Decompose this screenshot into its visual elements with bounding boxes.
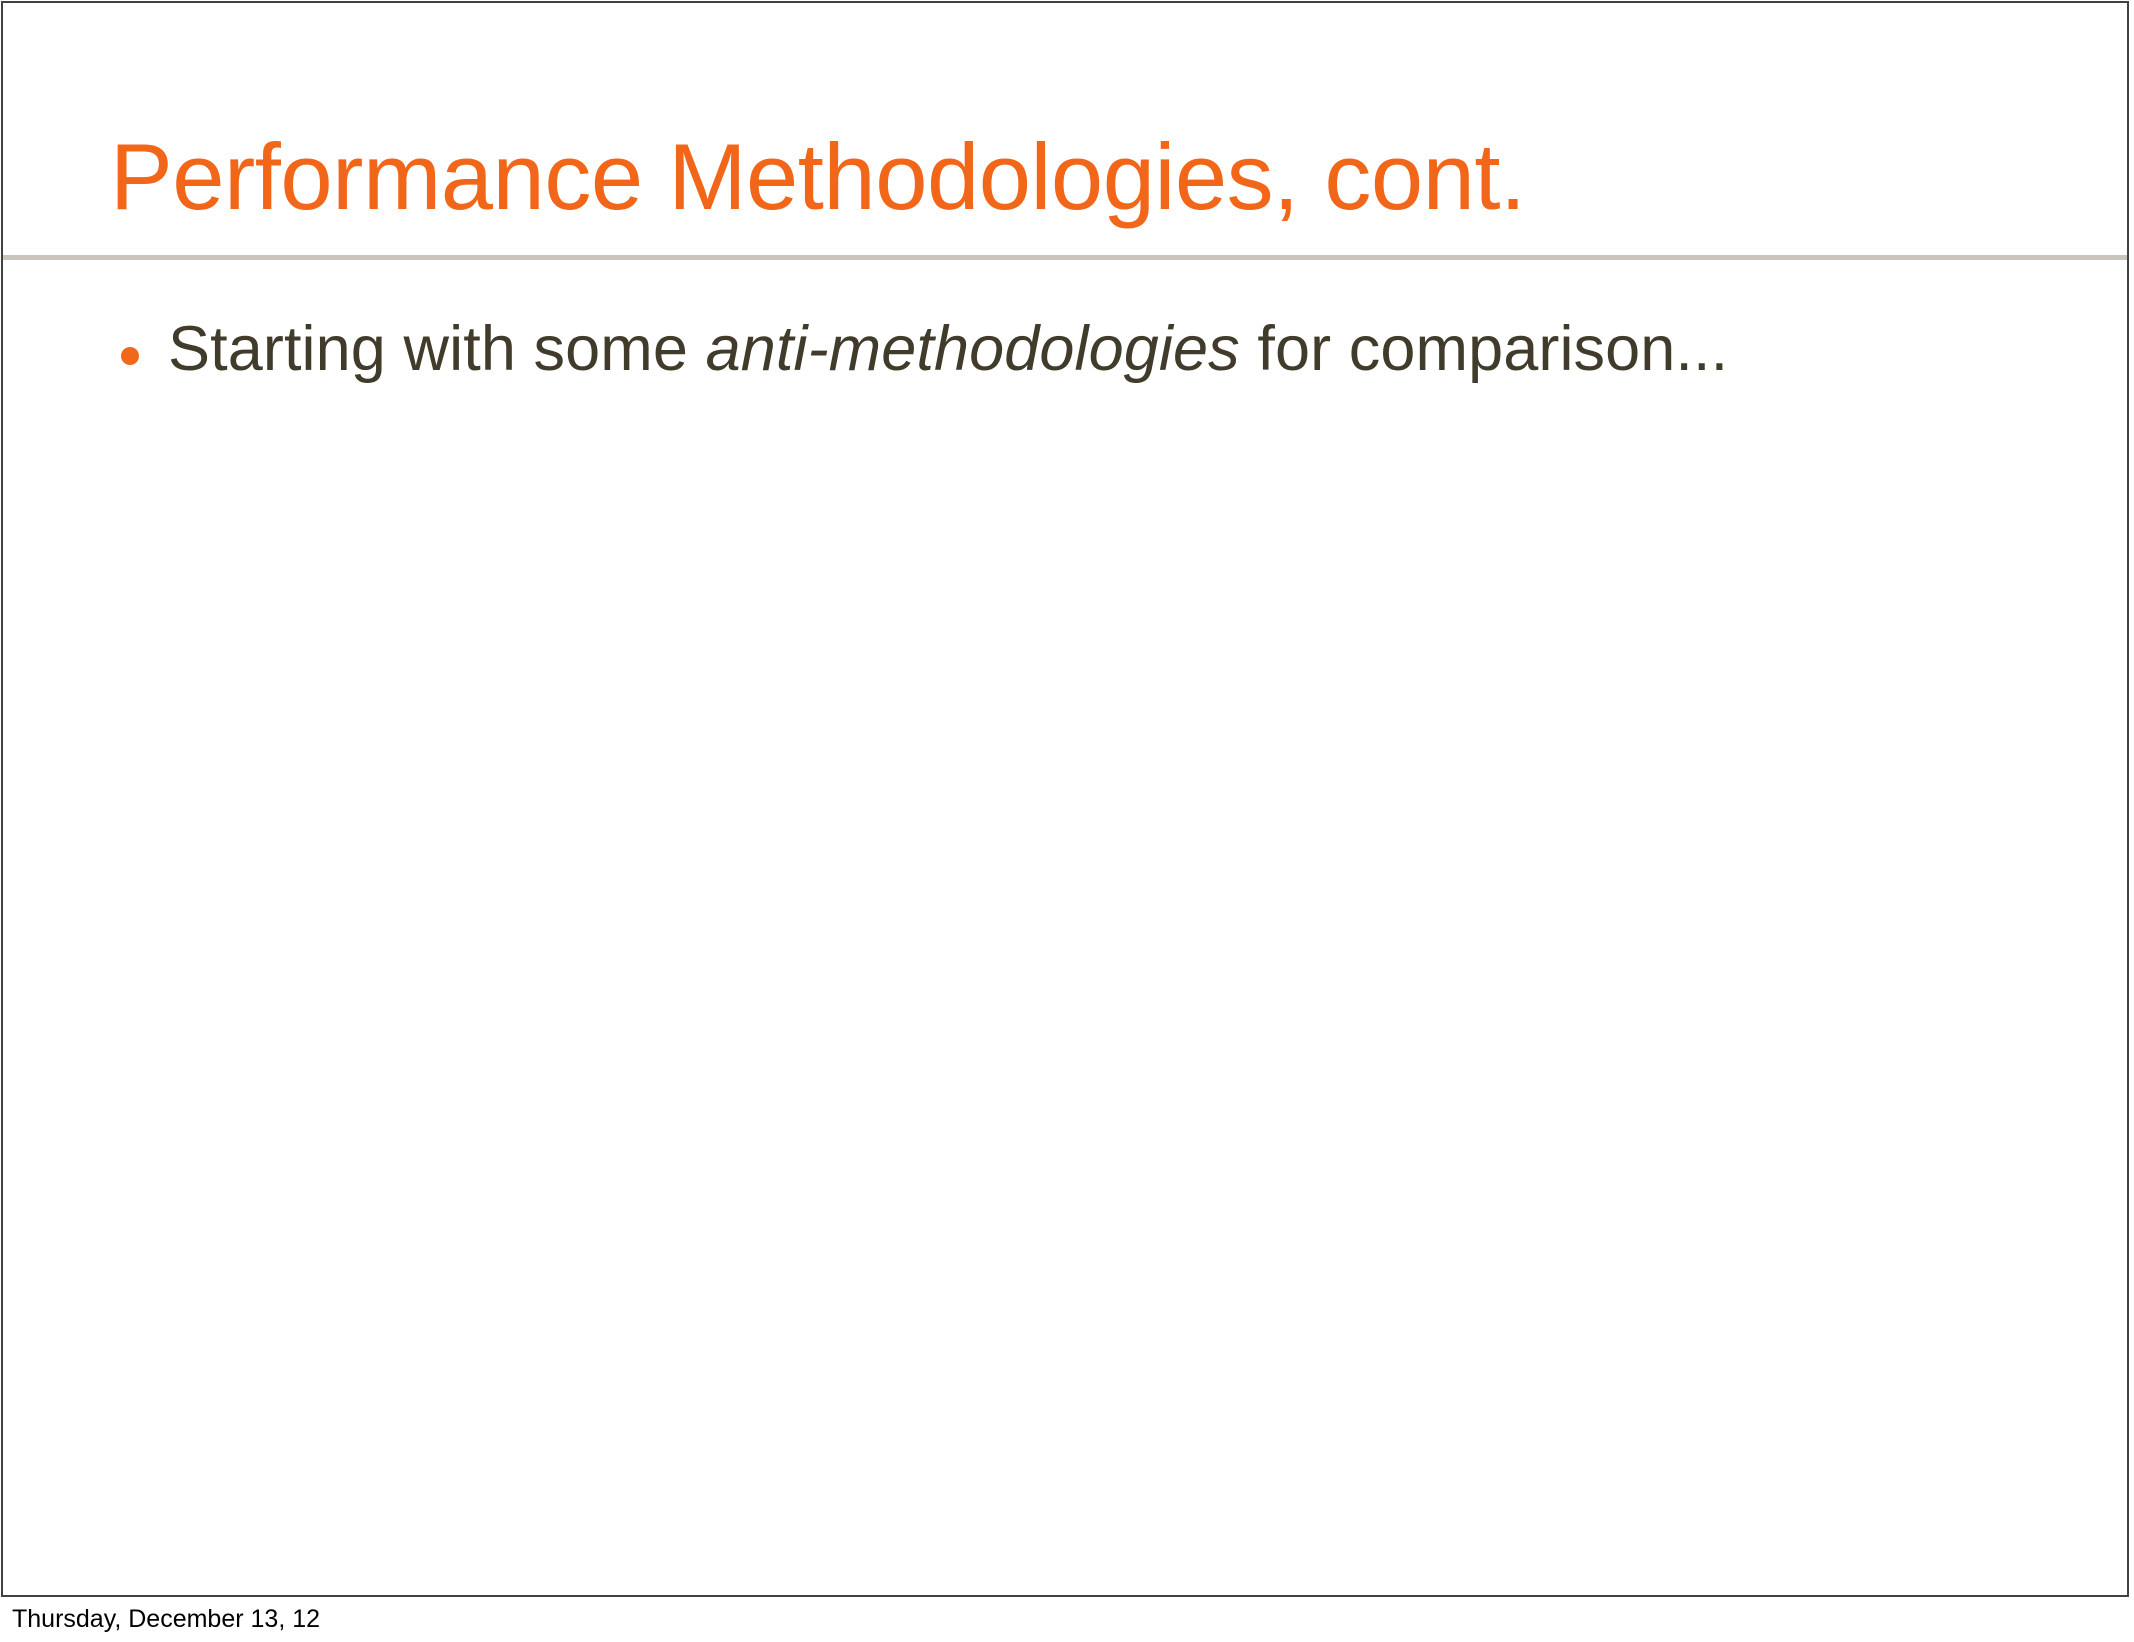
title-divider <box>3 255 2127 260</box>
list-item-label: Starting with some anti-methodologies fo… <box>168 309 2127 389</box>
list-item: Starting with some anti-methodologies fo… <box>3 309 2127 389</box>
bullet-text-after: for comparison... <box>1240 314 1728 384</box>
slide-body: Starting with some anti-methodologies fo… <box>3 271 2127 1591</box>
page-title: Performance Methodologies, cont. <box>110 122 2010 232</box>
slide-canvas: Performance Methodologies, cont. Startin… <box>1 1 2129 1597</box>
bullet-text-before: Starting with some <box>168 314 706 384</box>
bullet-dot-icon <box>121 347 139 365</box>
footer-date: Thursday, December 13, 12 <box>12 1604 320 1634</box>
bullet-text-emphasis: anti-methodologies <box>706 314 1240 384</box>
